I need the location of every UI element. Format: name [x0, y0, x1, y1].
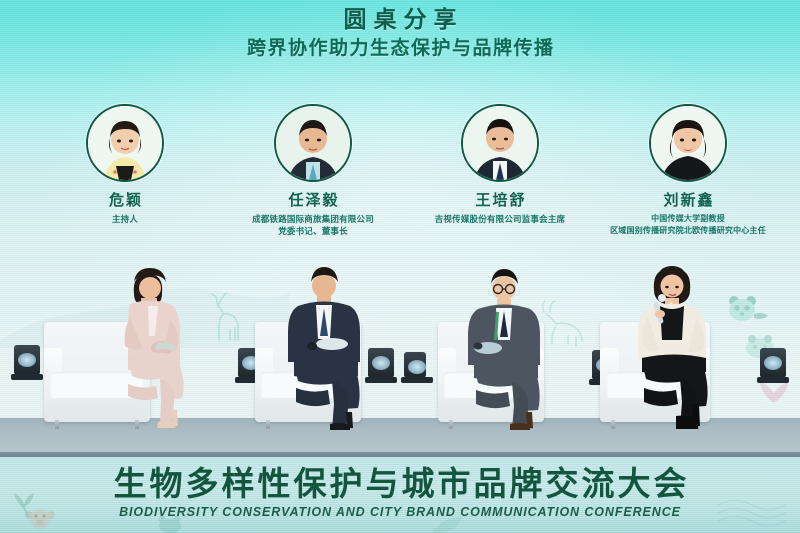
stage-light-icon [404, 352, 426, 378]
panelist-name: 刘新鑫 [594, 191, 782, 210]
event-banner: 生物多样性保护与城市品牌交流大会 BIODIVERSITY CONSERVATI… [0, 457, 800, 533]
panelist-list: 危颖 主持人 任泽毅 [0, 104, 800, 254]
portrait-icon [276, 106, 350, 180]
panelist-name: 王培舒 [406, 191, 594, 210]
avatar [649, 104, 727, 182]
portrait-icon [651, 106, 725, 180]
panelist-title: 吉视传媒股份有限公司监事会主席 [406, 213, 594, 225]
conference-stage-photo: 圆桌分享 跨界协作助力生态保护与品牌传播 [0, 0, 800, 533]
avatar [274, 104, 352, 182]
seated-person-panelist [452, 262, 562, 430]
seated-person-panelist [272, 258, 382, 430]
page-subtitle: 跨界协作助力生态保护与品牌传播 [0, 36, 800, 62]
panelist-title-line: 区域国别传播研究院北欧传播研究中心主任 [594, 225, 782, 237]
panelist-card: 刘新鑫 中国传媒大学副教授 区域国别传播研究院北欧传播研究中心主任 [594, 104, 782, 237]
portrait-icon [88, 106, 162, 180]
panelist-card: 任泽毅 成都铁路国际商旅集团有限公司 党委书记、董事长 [219, 104, 407, 237]
panelist-title: 成都铁路国际商旅集团有限公司 党委书记、董事长 [219, 213, 407, 237]
panelist-title-line: 主持人 [31, 213, 219, 225]
panelist-name: 危颖 [31, 191, 219, 210]
banner-title-cn: 生物多样性保护与城市品牌交流大会 [0, 465, 800, 503]
panelist-card: 王培舒 吉视传媒股份有限公司监事会主席 [406, 104, 594, 225]
avatar [86, 104, 164, 182]
panelist-title-line: 吉视传媒股份有限公司监事会主席 [406, 213, 594, 225]
portrait-icon [463, 106, 537, 180]
stage-light-icon [760, 348, 786, 378]
seated-person-panelist-speaking [620, 258, 730, 430]
panelist-title-line: 成都铁路国际商旅集团有限公司 [219, 213, 407, 225]
panelist-title: 中国传媒大学副教授 区域国别传播研究院北欧传播研究中心主任 [594, 213, 782, 237]
seated-person-host [100, 258, 210, 428]
headline-block: 圆桌分享 跨界协作助力生态保护与品牌传播 [0, 4, 800, 62]
panelist-title: 主持人 [31, 213, 219, 225]
panelist-card: 危颖 主持人 [31, 104, 219, 225]
panelist-title-line: 党委书记、董事长 [219, 225, 407, 237]
panelist-title-line: 中国传媒大学副教授 [594, 213, 782, 225]
panelist-name: 任泽毅 [219, 191, 407, 210]
stage-light-icon [14, 345, 40, 375]
page-title: 圆桌分享 [0, 4, 800, 34]
banner-title-en: BIODIVERSITY CONSERVATION AND CITY BRAND… [0, 505, 800, 520]
avatar [461, 104, 539, 182]
